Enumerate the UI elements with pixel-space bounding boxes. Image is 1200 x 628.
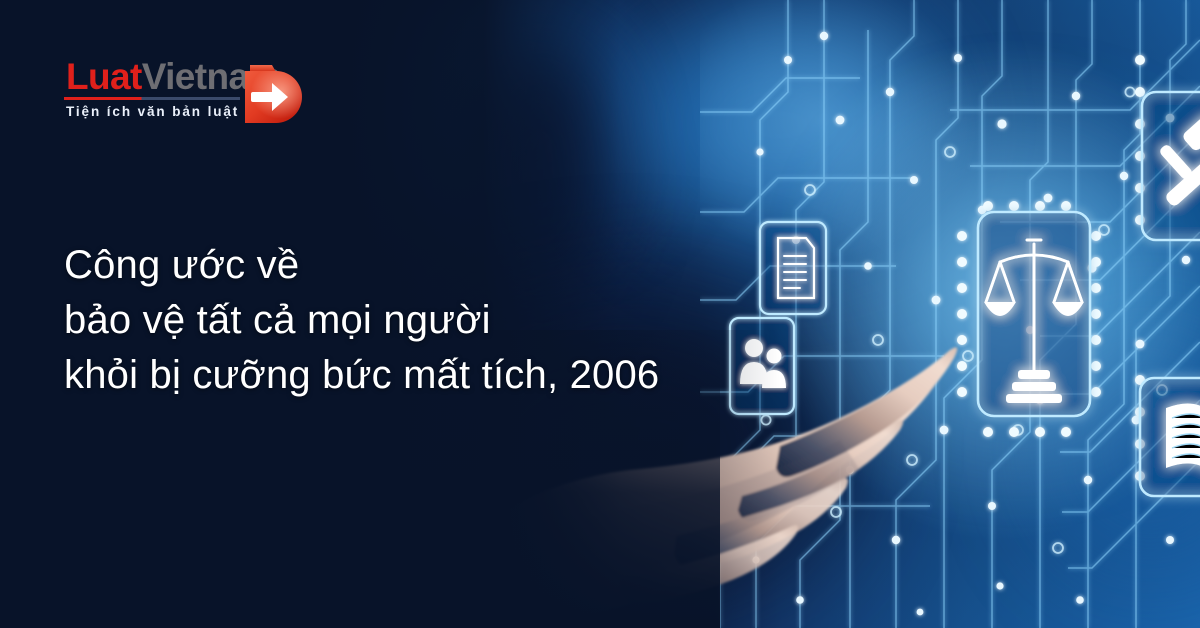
page-title: Công ước về bảo vệ tất cả mọi người khỏi… — [64, 238, 824, 403]
logo-divider — [64, 97, 240, 100]
logo-luat-text: Luat — [66, 56, 142, 97]
banner: LuatVietnam Tiện ích văn bản luật — [0, 0, 1200, 628]
headline-line-2: bảo vệ tất cả mọi người — [64, 293, 824, 348]
open-book-icon — [1140, 378, 1200, 496]
headline-line-3: khỏi bị cưỡng bức mất tích, 2006 — [64, 348, 824, 403]
logo[interactable]: LuatVietnam Tiện ích văn bản luật — [64, 58, 314, 144]
gavel-icon — [1142, 92, 1200, 240]
folder-arrow-icon — [236, 56, 308, 128]
headline-line-1: Công ước về — [64, 238, 824, 293]
